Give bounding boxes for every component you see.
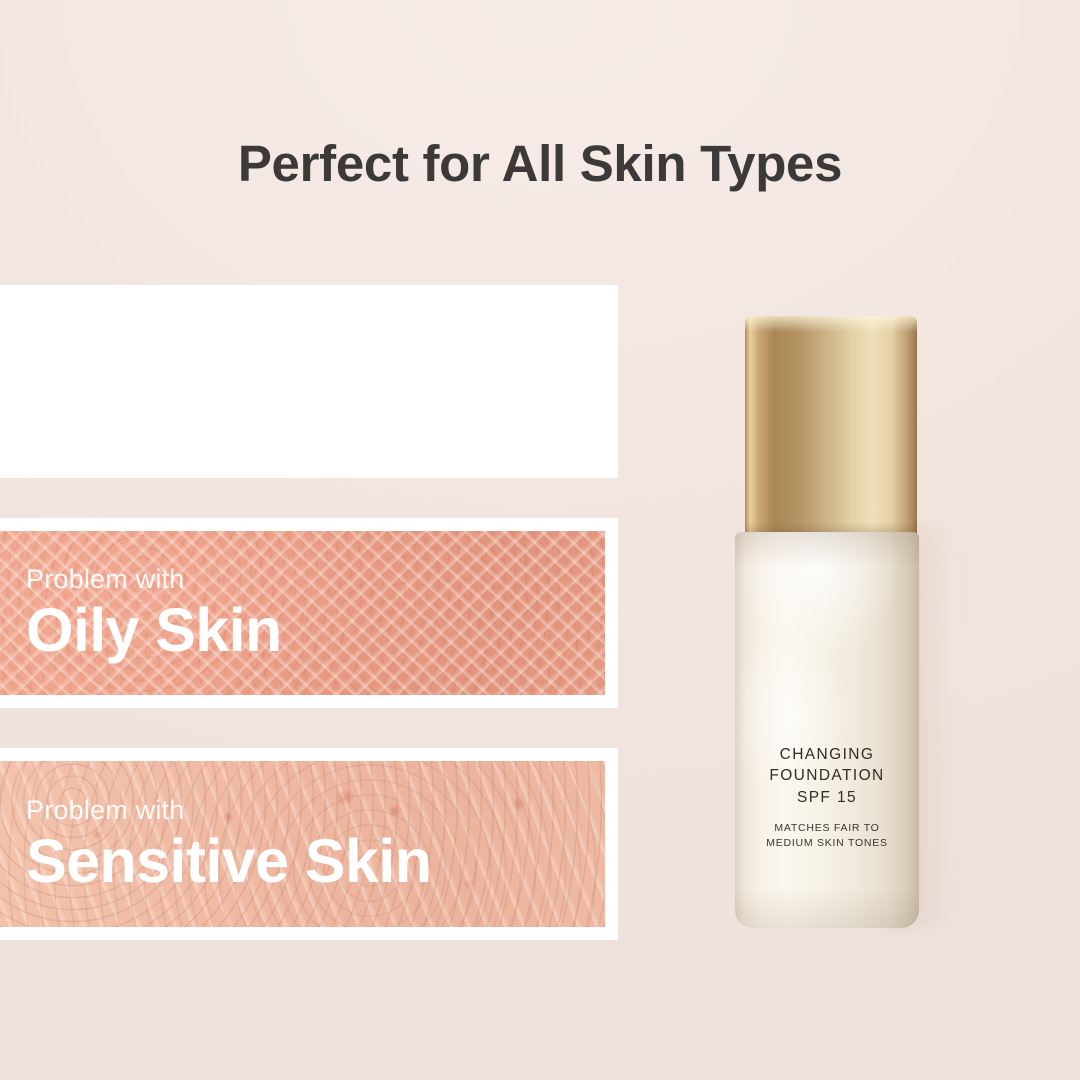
skin-type-card-oily[interactable]: Problem with Oily Skin: [0, 518, 618, 708]
sensitive-skin-photo: Problem with Sensitive Skin: [0, 761, 605, 927]
product-name: CHANGING FOUNDATION SPF 15: [735, 744, 919, 808]
card-kicker: Problem with: [26, 334, 316, 364]
card-title: Oily Skin: [26, 599, 282, 661]
cap-highlight: [745, 316, 917, 332]
bottle-gold-cap: [745, 316, 917, 538]
acne-skin-photo: Problem with Acne Skin: [0, 298, 605, 465]
product-name-line-3: SPF 15: [735, 787, 919, 808]
page-title: Perfect for All Skin Types: [0, 134, 1080, 193]
skin-type-card-sensitive[interactable]: Problem with Sensitive Skin: [0, 748, 618, 940]
card-text-block: Problem with Sensitive Skin: [26, 761, 431, 927]
product-shade-line-1: MATCHES FAIR TO: [735, 821, 919, 836]
product-name-line-2: FOUNDATION: [735, 765, 919, 786]
product-name-line-1: CHANGING: [735, 744, 919, 765]
card-text-block: Problem with Oily Skin: [26, 531, 282, 695]
product-promo-poster: Perfect for All Skin Types Problem with …: [0, 0, 1080, 1080]
card-kicker: Problem with: [26, 565, 282, 595]
bottle-label: CHANGING FOUNDATION SPF 15 MATCHES FAIR …: [735, 744, 919, 851]
bottle-glass-body: [735, 532, 919, 928]
product-shade-line-2: MEDIUM SKIN TONES: [735, 836, 919, 851]
card-kicker: Problem with: [26, 796, 431, 826]
skin-type-card-acne[interactable]: Problem with Acne Skin: [0, 285, 618, 478]
card-text-block: Problem with Acne Skin: [26, 298, 316, 465]
card-title: Sensitive Skin: [26, 830, 431, 892]
oily-skin-photo: Problem with Oily Skin: [0, 531, 605, 695]
product-shade-note: MATCHES FAIR TO MEDIUM SKIN TONES: [735, 821, 919, 851]
product-bottle[interactable]: CHANGING FOUNDATION SPF 15 MATCHES FAIR …: [735, 316, 919, 928]
card-title: Acne Skin: [26, 367, 316, 429]
